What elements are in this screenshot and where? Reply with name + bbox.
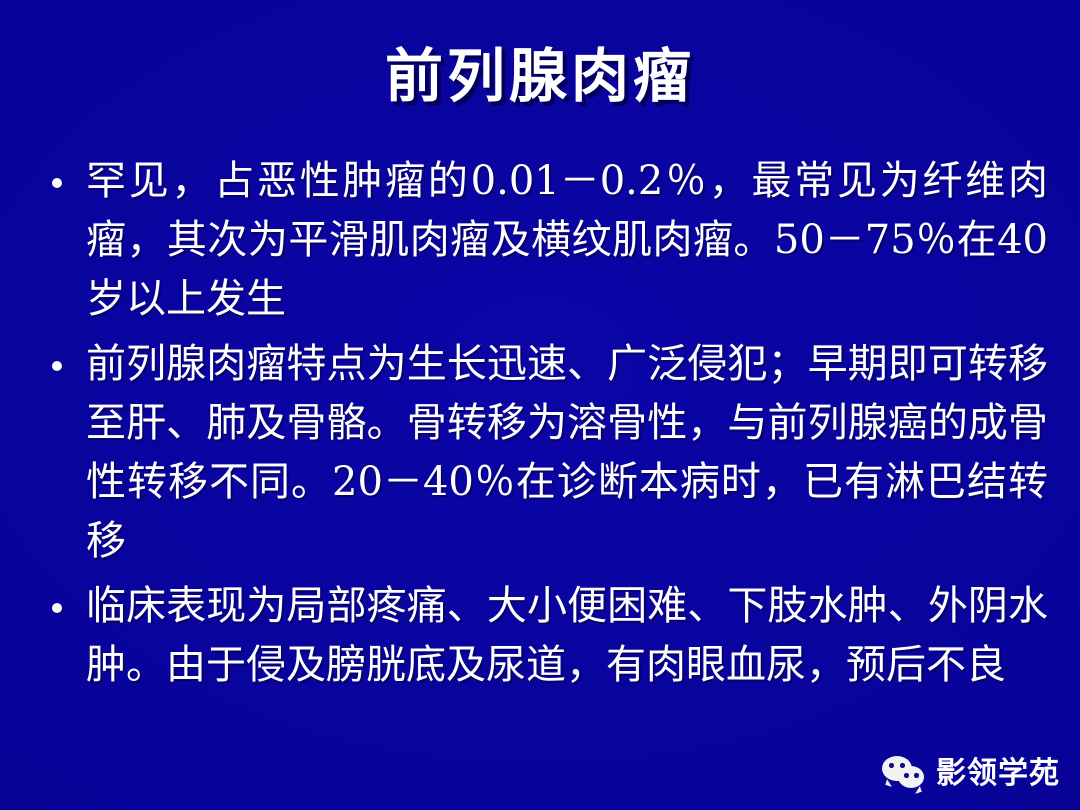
list-item: 罕见，占恶性肿瘤的0.01－0.2％，最常见为纤维肉瘤，其次为平滑肌肉瘤及横纹肌…: [34, 152, 1048, 329]
watermark: 影领学苑: [882, 756, 1060, 792]
watermark-label: 影领学苑: [936, 757, 1060, 791]
bullet-dot-icon: [34, 152, 86, 210]
bullet-list: 罕见，占恶性肿瘤的0.01－0.2％，最常见为纤维肉瘤，其次为平滑肌肉瘤及横纹肌…: [34, 152, 1048, 701]
bullet-dot-icon: [34, 335, 86, 393]
list-item-text: 罕见，占恶性肿瘤的0.01－0.2％，最常见为纤维肉瘤，其次为平滑肌肉瘤及横纹肌…: [86, 152, 1048, 329]
list-item-text: 前列腺肉瘤特点为生长迅速、广泛侵犯；早期即可转移至肝、肺及骨骼。骨转移为溶骨性，…: [86, 335, 1048, 571]
list-item: 临床表现为局部疼痛、大小便困难、下肢水肿、外阴水肿。由于侵及膀胱底及尿道，有肉眼…: [34, 577, 1048, 695]
list-item: 前列腺肉瘤特点为生长迅速、广泛侵犯；早期即可转移至肝、肺及骨骼。骨转移为溶骨性，…: [34, 335, 1048, 571]
bullet-dot-icon: [34, 577, 86, 635]
wechat-icon: [882, 756, 928, 792]
list-item-text: 临床表现为局部疼痛、大小便困难、下肢水肿、外阴水肿。由于侵及膀胱底及尿道，有肉眼…: [86, 577, 1048, 695]
page-title: 前列腺肉瘤: [0, 44, 1080, 108]
slide-canvas: 前列腺肉瘤 罕见，占恶性肿瘤的0.01－0.2％，最常见为纤维肉瘤，其次为平滑肌…: [0, 0, 1080, 810]
